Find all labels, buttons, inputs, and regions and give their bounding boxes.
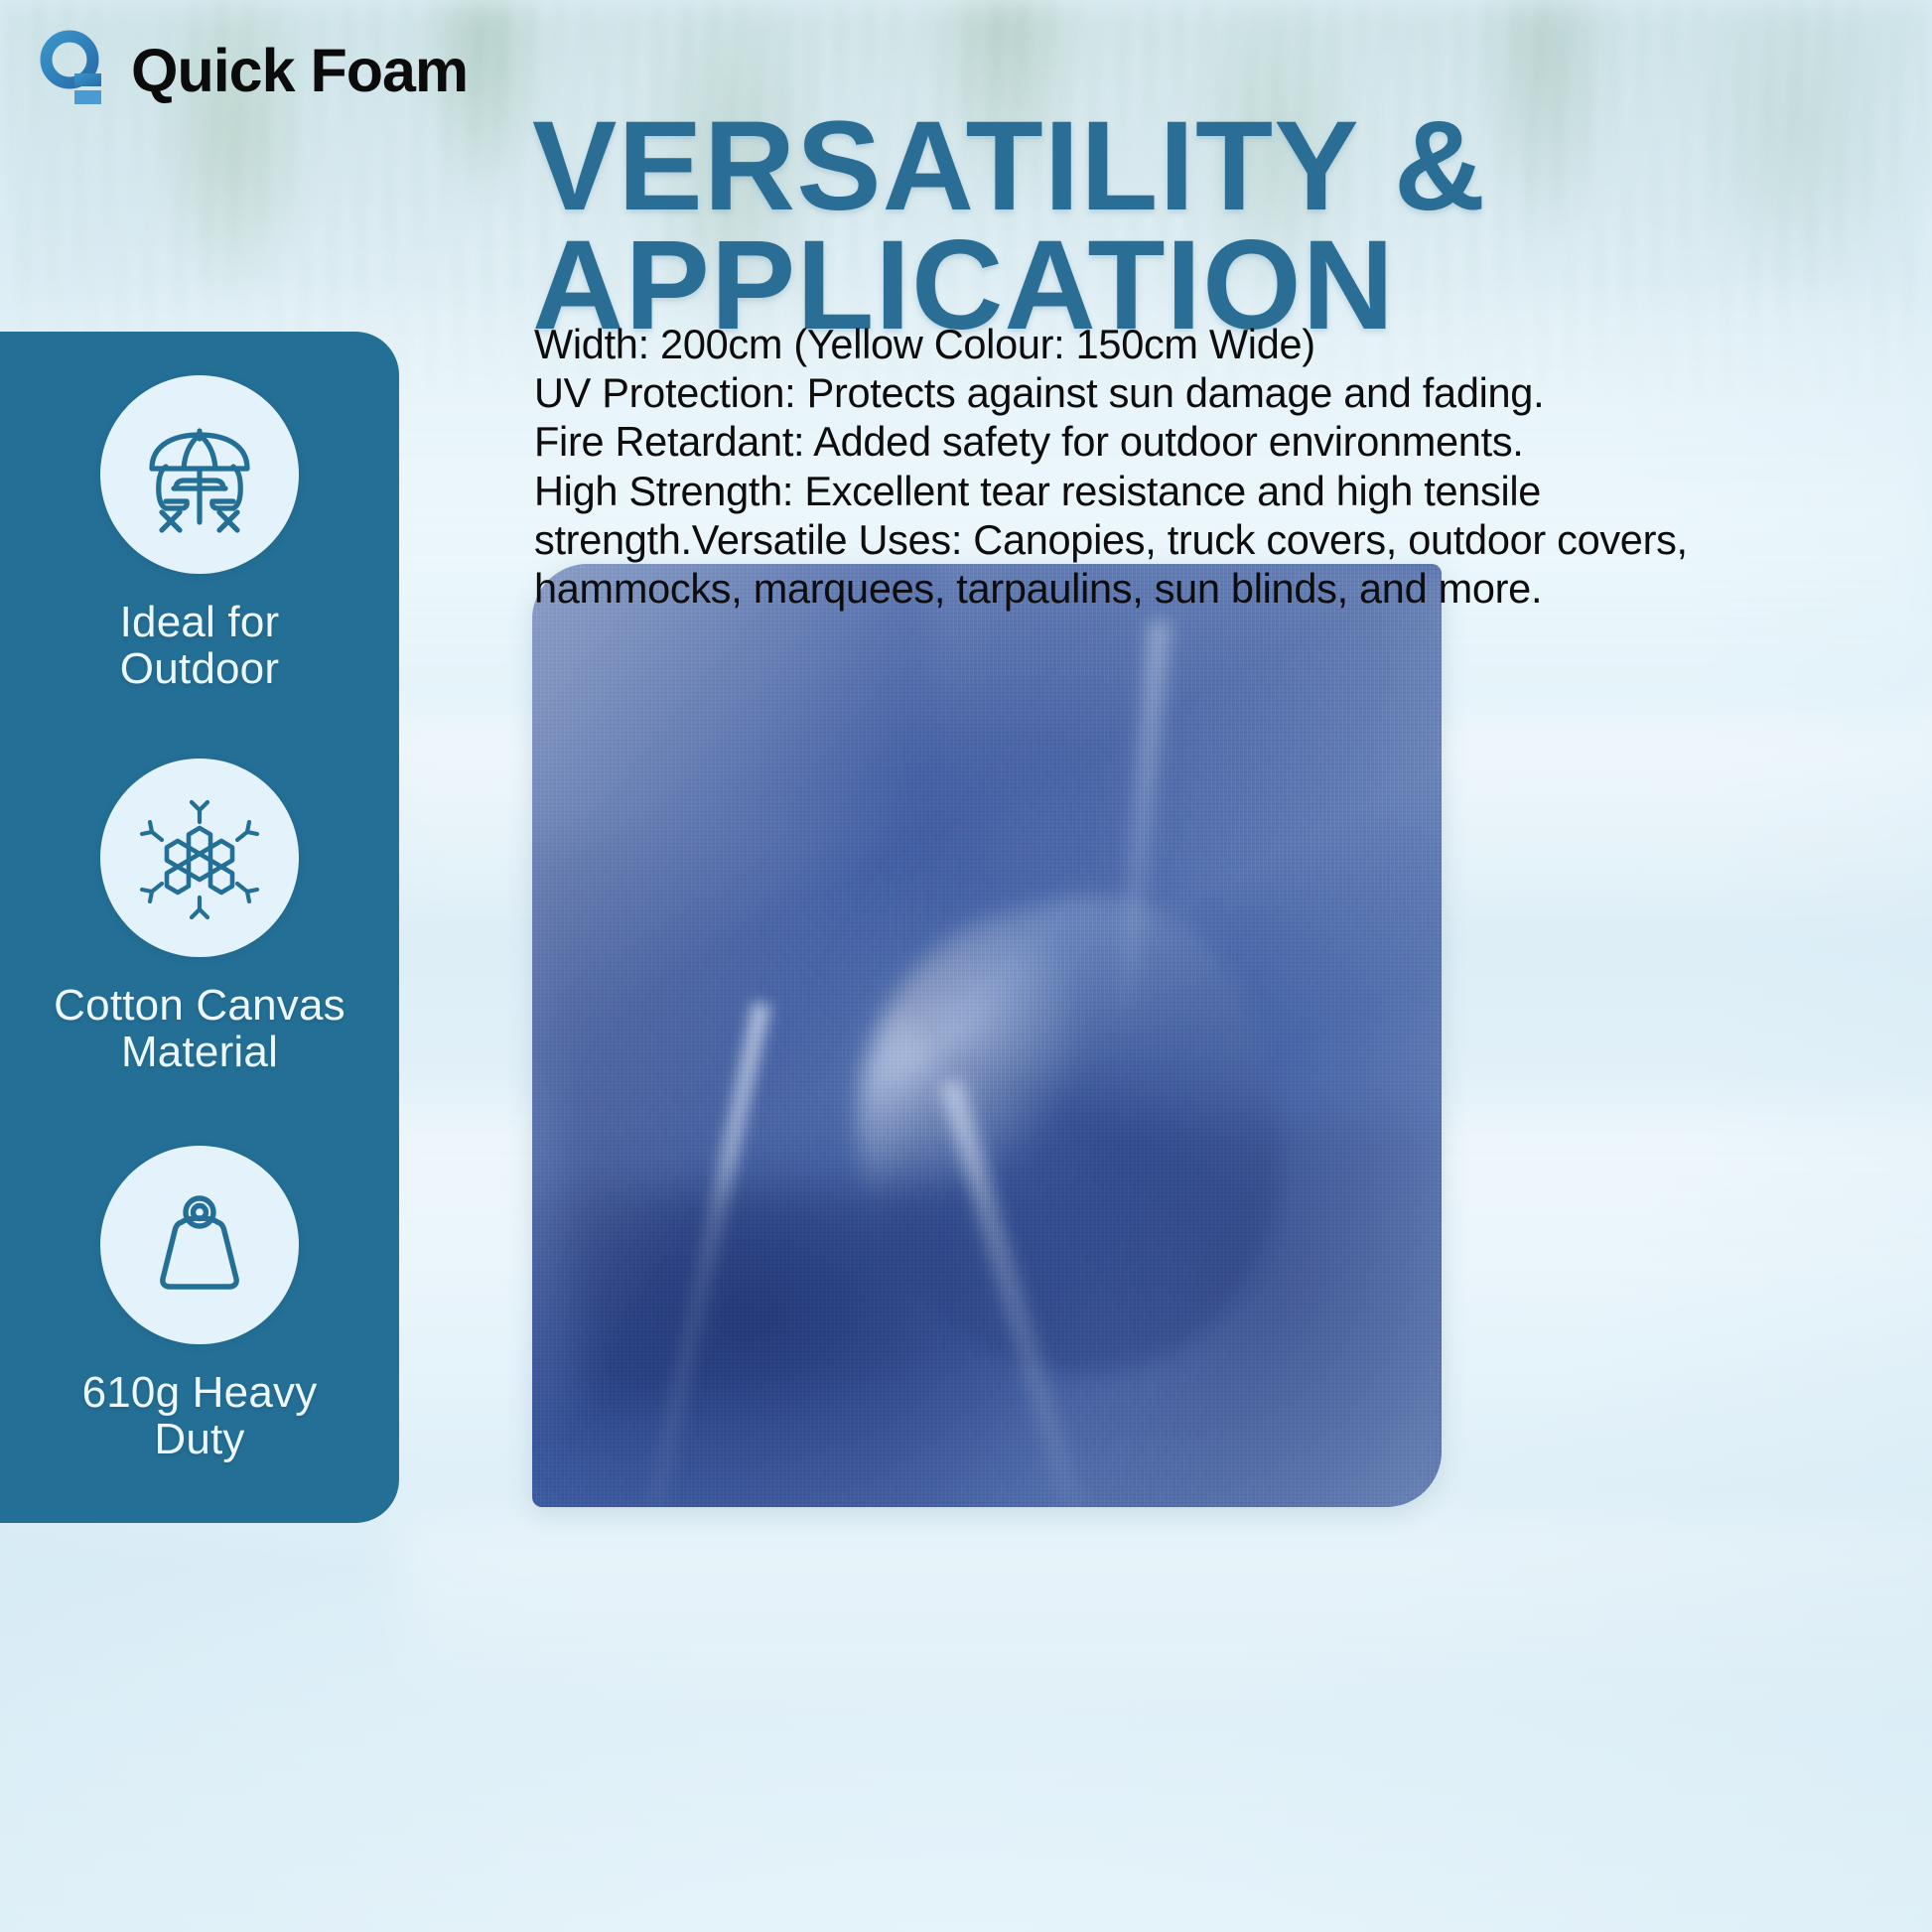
feature-item-cotton-canvas-material: Cotton Canvas Material	[0, 759, 399, 1075]
feature-item-610g-heavy-duty: 610g Heavy Duty	[0, 1146, 399, 1462]
feature-label-line-2: Outdoor	[0, 646, 399, 693]
feature-label-line-1: 610g Heavy	[0, 1370, 399, 1417]
product-image	[532, 564, 1442, 1507]
feature-label: Cotton Canvas Material	[0, 983, 399, 1075]
brand-name: Quick Foam	[131, 41, 468, 101]
feature-icon-circle	[100, 759, 299, 957]
description-line-applications: hammocks, marquees, tarpaulins, sun blin…	[534, 564, 1874, 613]
description-line-high-strength: High Strength: Excellent tear resistance…	[534, 467, 1874, 515]
weight-kettlebell-icon	[132, 1175, 267, 1315]
feature-label-line-2: Material	[0, 1030, 399, 1076]
description-line-width: Width: 200cm (Yellow Colour: 150cm Wide)	[534, 320, 1874, 368]
feature-icon-circle	[100, 1146, 299, 1344]
feature-sidebar: Ideal for Outdoor	[0, 332, 399, 1523]
feature-icon-circle	[100, 375, 299, 574]
honeycomb-fiber-weave-icon	[132, 788, 267, 928]
page-title: VERSATILITY & APPLICATION	[532, 107, 1843, 346]
patio-umbrella-table-chairs-icon	[132, 405, 267, 545]
feature-label: Ideal for Outdoor	[0, 600, 399, 692]
feature-label: 610g Heavy Duty	[0, 1370, 399, 1462]
description-line-versatile-uses: strength.Versatile Uses: Canopies, truck…	[534, 515, 1874, 564]
fabric-sheen	[532, 564, 1442, 1507]
description-line-fire-retardant: Fire Retardant: Added safety for outdoor…	[534, 417, 1874, 466]
feature-label-line-1: Ideal for	[0, 600, 399, 646]
feature-item-ideal-for-outdoor: Ideal for Outdoor	[0, 375, 399, 692]
brand-logo[interactable]: Quick Foam	[40, 30, 468, 111]
quick-foam-q-mark-icon	[40, 30, 109, 111]
feature-label-line-1: Cotton Canvas	[0, 983, 399, 1030]
feature-label-line-2: Duty	[0, 1417, 399, 1463]
product-description: Width: 200cm (Yellow Colour: 150cm Wide)…	[534, 320, 1874, 613]
description-line-uv-protection: UV Protection: Protects against sun dama…	[534, 368, 1874, 417]
